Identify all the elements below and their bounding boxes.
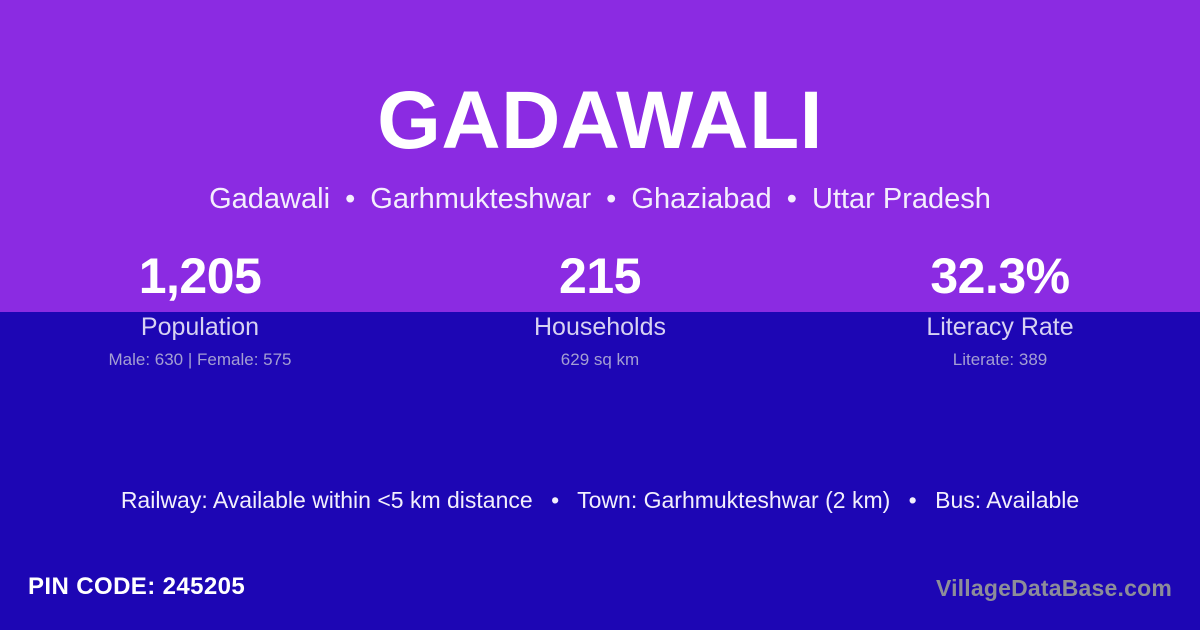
- stat-value: 1,205: [0, 246, 400, 308]
- stat-sublabel: Literate: 389: [800, 350, 1200, 370]
- infra-item-bus: Bus: Available: [935, 487, 1079, 513]
- stats-row: 1,205 Population Male: 630 | Female: 575…: [0, 246, 1200, 370]
- breadcrumb-item-block: Garhmukteshwar: [370, 183, 591, 215]
- breadcrumb: Gadawali • Garhmukteshwar • Ghaziabad • …: [0, 182, 1200, 217]
- stat-value: 32.3%: [800, 246, 1200, 308]
- stat-label: Households: [400, 313, 800, 341]
- site-watermark: VillageDataBase.com: [936, 574, 1172, 602]
- pin-code: PIN CODE: 245205: [28, 572, 245, 602]
- infra-separator-icon: •: [539, 487, 571, 513]
- stat-sublabel: Male: 630 | Female: 575: [0, 350, 400, 370]
- breadcrumb-separator-icon: •: [338, 183, 362, 215]
- infra-item-town: Town: Garhmukteshwar (2 km): [577, 487, 890, 513]
- breadcrumb-item-village: Gadawali: [209, 183, 330, 215]
- stat-sublabel: 629 sq km: [400, 350, 800, 370]
- stat-households: 215 Households 629 sq km: [400, 246, 800, 370]
- page-title: GADAWALI: [0, 80, 1200, 162]
- stat-label: Population: [0, 313, 400, 341]
- breadcrumb-item-district: Ghaziabad: [631, 183, 771, 215]
- footer: PIN CODE: 245205 VillageDataBase.com: [0, 558, 1200, 630]
- breadcrumb-item-state: Uttar Pradesh: [812, 183, 991, 215]
- breadcrumb-separator-icon: •: [780, 183, 804, 215]
- stat-label: Literacy Rate: [800, 313, 1200, 341]
- stat-literacy-rate: 32.3% Literacy Rate Literate: 389: [800, 246, 1200, 370]
- infrastructure-line: Railway: Available within <5 km distance…: [0, 485, 1200, 515]
- infra-separator-icon: •: [897, 487, 929, 513]
- stat-value: 215: [400, 246, 800, 308]
- infra-item-railway: Railway: Available within <5 km distance: [121, 487, 533, 513]
- breadcrumb-separator-icon: •: [599, 183, 623, 215]
- stat-population: 1,205 Population Male: 630 | Female: 575: [0, 246, 400, 370]
- village-info-card: GADAWALI Gadawali • Garhmukteshwar • Gha…: [0, 0, 1200, 630]
